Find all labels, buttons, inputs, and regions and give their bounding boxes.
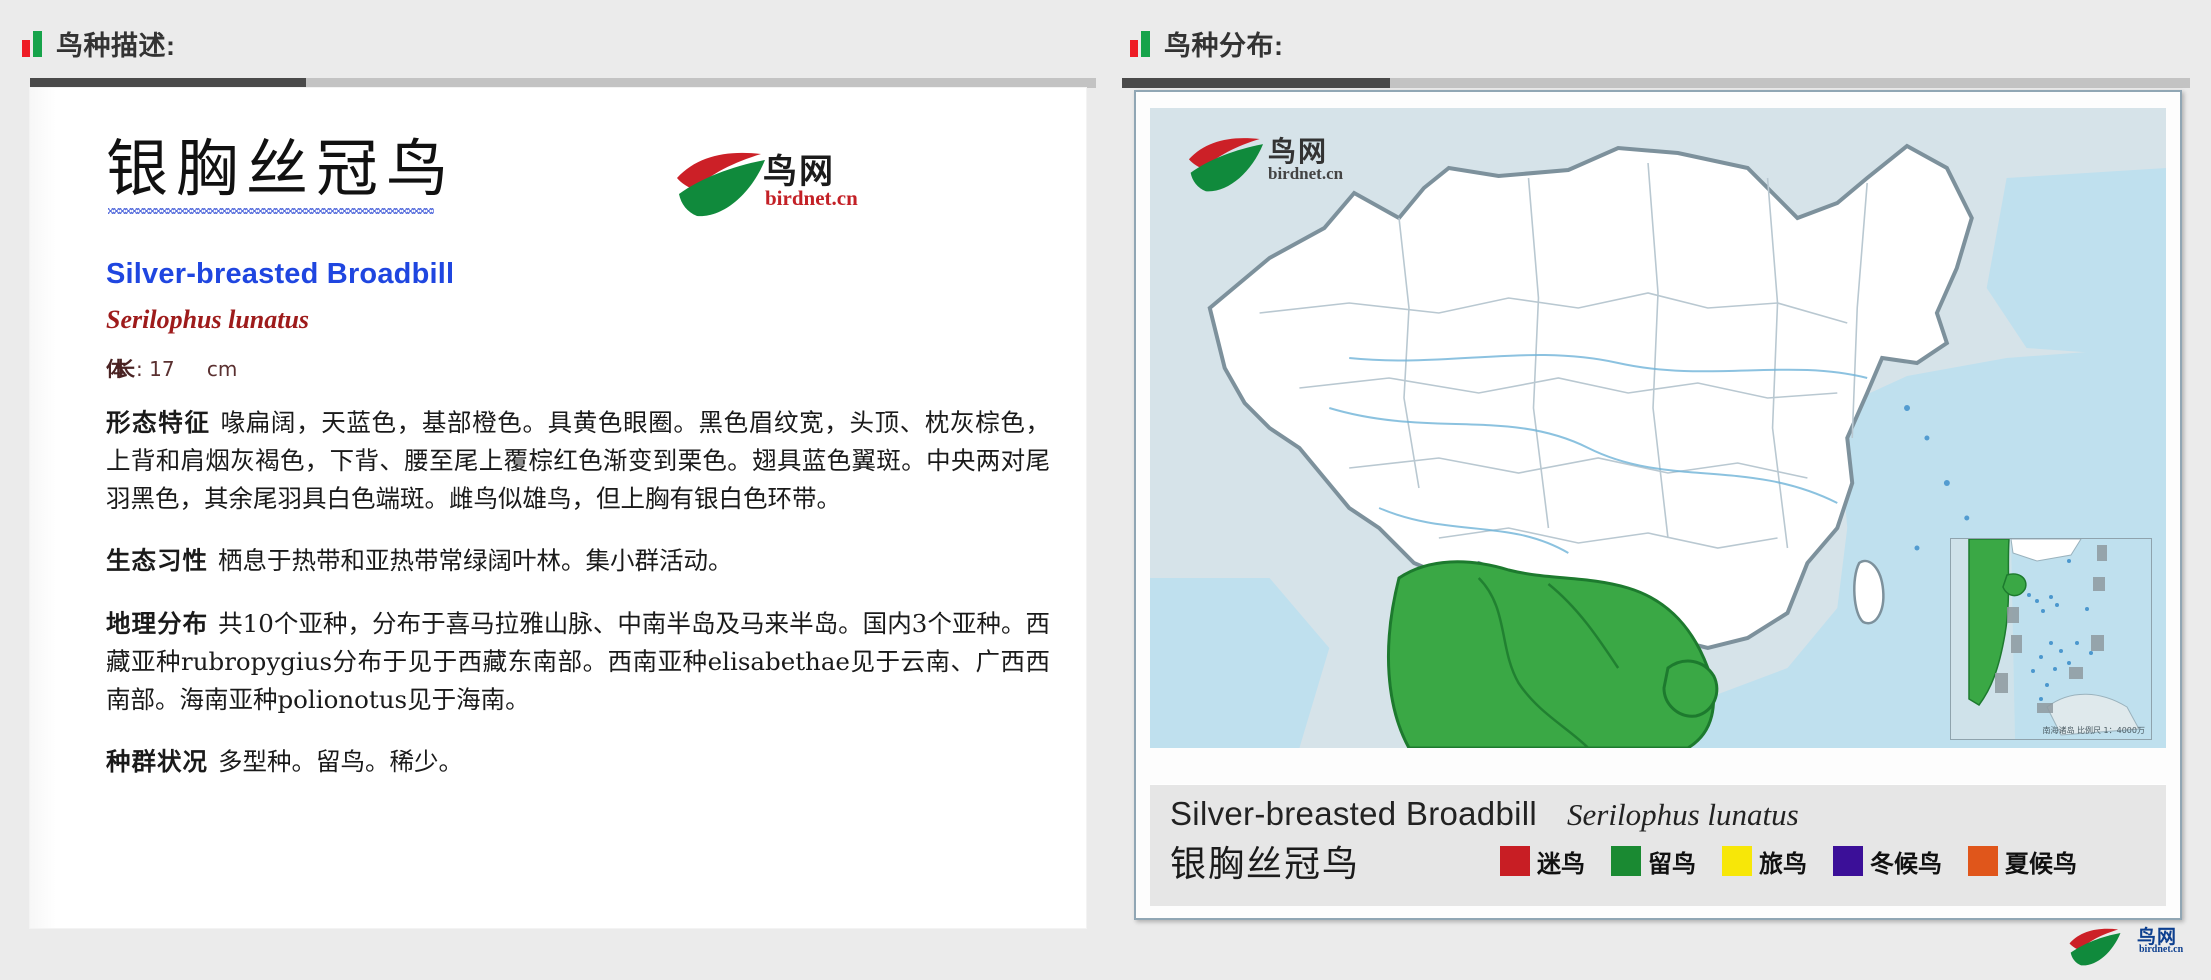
legend-bottom-row: 银胸丝冠鸟 迷鸟 留鸟 旅鸟 (1170, 835, 2150, 887)
section-morphology-text: 喙扁阔，天蓝色，基部橙色。具黄色眼圈。黑色眉纹宽，头顶、枕灰棕色，上背和肩烟灰褐… (106, 408, 1050, 513)
legend-swatch-vagrant (1500, 846, 1530, 876)
corner-logo-url: birdnet.cn (2139, 944, 2183, 955)
description-panel: 鸟种描述: 银胸丝冠鸟 鸟网 birdnet.cn Silver-breaste… (0, 0, 1100, 980)
section-distribution-label: 地理分布 (106, 609, 208, 638)
map-birdnet-logo-url: birdnet.cn (1268, 164, 1343, 184)
distribution-panel-title: 鸟种分布: (1164, 24, 1284, 63)
section-morphology-label: 形态特征 (106, 408, 211, 437)
distribution-map-image[interactable]: 鸟网 birdnet.cn (1150, 108, 2166, 748)
description-tabbar[interactable] (30, 78, 1096, 88)
species-size-line: 体长: 17 cm (106, 353, 1050, 382)
birdnet-logo-url: birdnet.cn (765, 186, 858, 211)
section-mark-icon (22, 31, 42, 57)
distribution-panel-header: 鸟种分布: (1130, 24, 1284, 63)
sea-inset-label: 南海诸岛 比例尺 1：4000万 (2042, 726, 2145, 735)
south-china-sea-inset: 南海诸岛 比例尺 1：4000万 (1950, 538, 2152, 740)
map-legend: Silver-breasted Broadbill Serilophus lun… (1150, 784, 2166, 906)
legend-label-resident: 留鸟 (1648, 844, 1696, 879)
legend-species-names: Silver-breasted Broadbill Serilophus lun… (1170, 795, 2150, 833)
section-population-text: 多型种。留鸟。稀少。 (218, 747, 463, 776)
species-scientific-name: Serilophus lunatus (106, 305, 1050, 335)
distribution-tabbar[interactable] (1122, 78, 2190, 88)
legend-key-resident: 留鸟 (1611, 844, 1696, 879)
legend-label-winter: 冬候鸟 (1870, 844, 1942, 879)
legend-key-winter: 冬候鸟 (1833, 844, 1942, 879)
legend-key-list: 迷鸟 留鸟 旅鸟 冬候鸟 (1500, 844, 2077, 879)
species-title-row: 银胸丝冠鸟 鸟网 birdnet.cn (106, 130, 1050, 240)
map-birdnet-swoosh-icon (1186, 134, 1266, 198)
section-population-label: 种群状况 (106, 747, 208, 776)
mark-red-bar-icon (1130, 40, 1138, 57)
size-value: 17 (149, 357, 174, 381)
description-panel-title: 鸟种描述: (56, 24, 176, 63)
species-chinese-name: 银胸丝冠鸟 (106, 130, 456, 214)
species-description-card: 银胸丝冠鸟 鸟网 birdnet.cn Silver-breasted Broa… (30, 88, 1086, 928)
legend-swatch-winter (1833, 846, 1863, 876)
distribution-panel: 鸟种分布: (1100, 0, 2211, 980)
legend-chinese-name: 银胸丝冠鸟 (1170, 835, 1500, 887)
size-separator: : (136, 357, 143, 381)
birdnet-swoosh-icon (675, 148, 767, 224)
distribution-tabbar-active-segment[interactable] (1122, 78, 1390, 88)
description-panel-header: 鸟种描述: (22, 24, 176, 63)
mark-green-bar-icon (1141, 31, 1150, 57)
legend-key-summer: 夏候鸟 (1968, 844, 2077, 879)
map-birdnet-logo: 鸟网 birdnet.cn (1186, 130, 1376, 204)
inset-hainan (2003, 574, 2026, 596)
legend-key-vagrant: 迷鸟 (1500, 844, 1585, 879)
section-distribution: 地理分布共10个亚种，分布于喜马拉雅山脉、中南半岛及马来半岛。国内3个亚种。西藏… (106, 605, 1050, 719)
legend-swatch-summer (1968, 846, 1998, 876)
distribution-map-card: 鸟网 birdnet.cn (1134, 90, 2182, 920)
corner-birdnet-swoosh-icon (2059, 926, 2131, 970)
birdnet-logo: 鸟网 birdnet.cn (675, 142, 880, 228)
section-morphology: 形态特征喙扁阔，天蓝色，基部橙色。具黄色眼圈。黑色眉纹宽，头顶、枕灰棕色，上背和… (106, 404, 1050, 518)
section-distribution-text: 共10个亚种，分布于喜马拉雅山脉、中南半岛及马来半岛。国内3个亚种。西藏亚种ru… (106, 609, 1050, 714)
section-habits: 生态习性栖息于热带和亚热带常绿阔叶林。集小群活动。 (106, 542, 1050, 580)
mark-red-bar-icon (22, 40, 30, 57)
legend-label-passage: 旅鸟 (1759, 844, 1807, 879)
legend-label-summer: 夏候鸟 (2005, 844, 2077, 879)
section-population: 种群状况多型种。留鸟。稀少。 (106, 743, 1050, 781)
legend-swatch-resident (1611, 846, 1641, 876)
section-habits-text: 栖息于热带和亚热带常绿阔叶林。集小群活动。 (218, 546, 733, 575)
section-mark-icon (1130, 31, 1150, 57)
size-label: 体长 (106, 357, 124, 381)
legend-swatch-passage (1722, 846, 1752, 876)
size-unit: cm (207, 357, 237, 381)
range-green-hainan (1664, 661, 1717, 716)
taiwan-island (1854, 561, 1883, 623)
mark-green-bar-icon (33, 31, 42, 57)
description-tabbar-active-segment[interactable] (30, 78, 306, 88)
corner-birdnet-watermark: 鸟网 birdnet.cn (2059, 920, 2199, 972)
legend-key-passage: 旅鸟 (1722, 844, 1807, 879)
legend-scientific-name: Serilophus lunatus (1567, 797, 1799, 833)
legend-english-name: Silver-breasted Broadbill (1170, 795, 1537, 833)
section-habits-label: 生态习性 (106, 546, 208, 575)
legend-label-vagrant: 迷鸟 (1537, 844, 1585, 879)
species-english-name: Silver-breasted Broadbill (106, 258, 1050, 291)
species-description-content: 银胸丝冠鸟 鸟网 birdnet.cn Silver-breasted Broa… (106, 130, 1050, 806)
sea-inset-svg (1951, 539, 2151, 739)
